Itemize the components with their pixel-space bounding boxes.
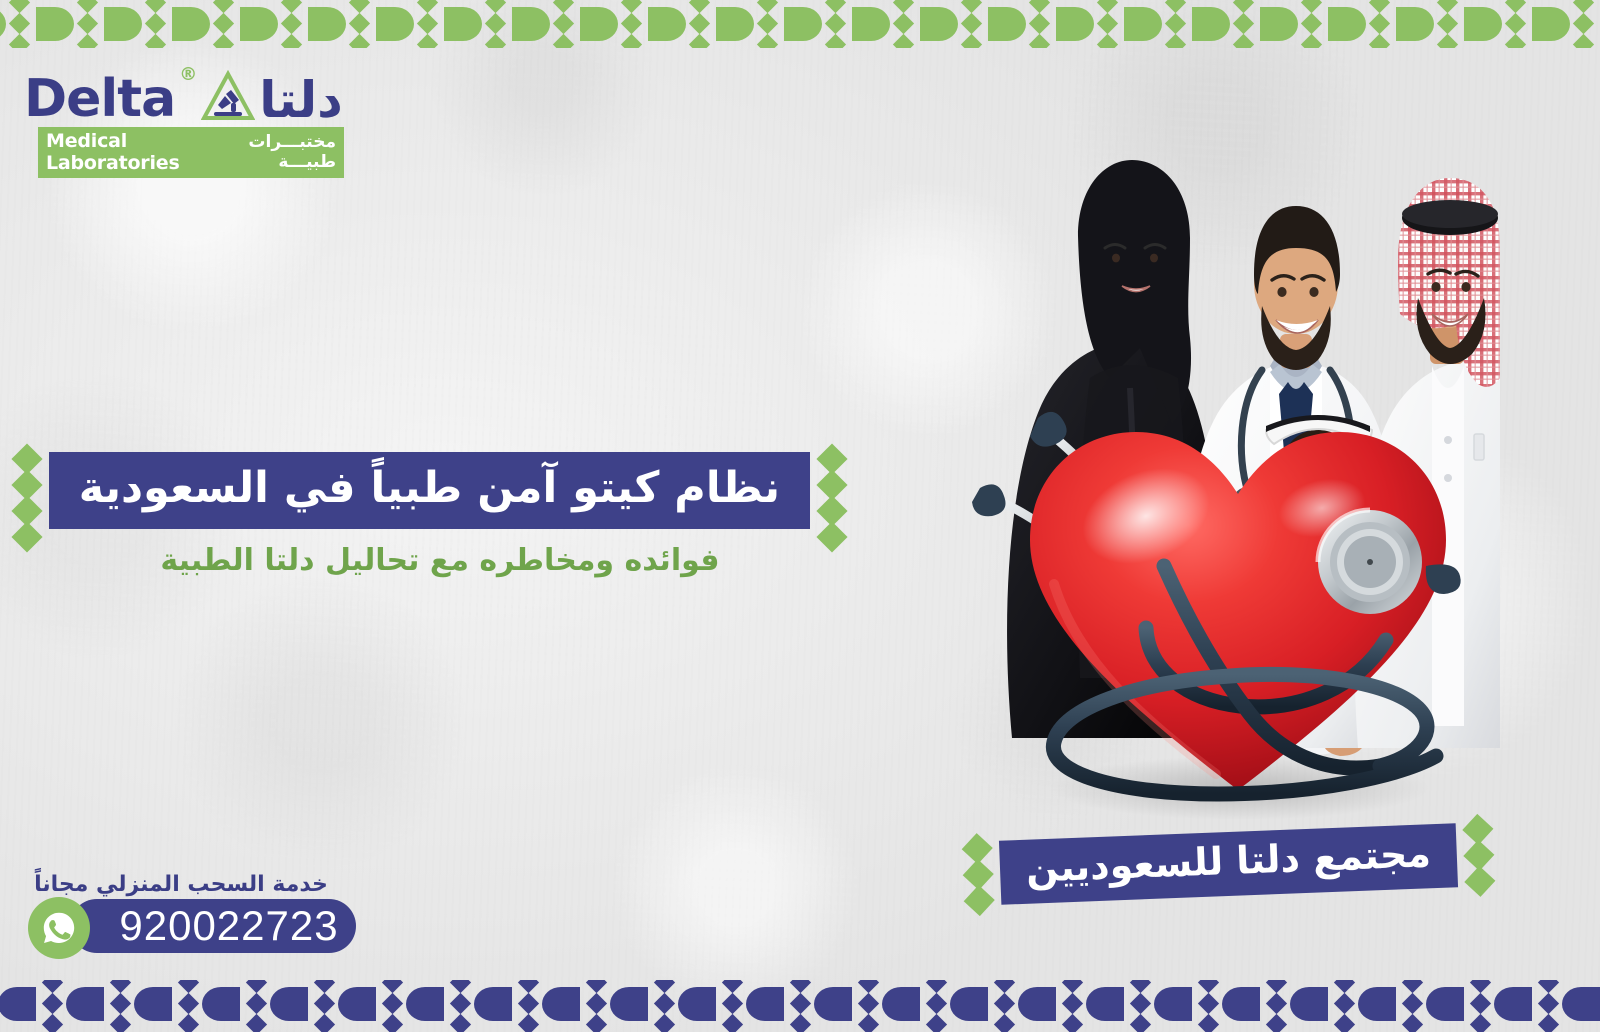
ornament-diamond xyxy=(178,993,199,1014)
top-ornament-border xyxy=(0,0,1600,48)
ornament-diamond xyxy=(1165,13,1186,34)
ornament-diamond xyxy=(722,980,743,993)
ornament-diamond xyxy=(790,993,811,1014)
ornament-diamond xyxy=(994,1014,1015,1032)
ornament-d-shape xyxy=(512,7,550,41)
ornament-diamond xyxy=(281,0,302,13)
ornament-d-shape xyxy=(678,987,716,1021)
ornament-diamond xyxy=(77,0,98,13)
ornament-diamond xyxy=(42,993,63,1014)
ornament-diamond xyxy=(994,993,1015,1014)
chevron-right-ornament-community xyxy=(1456,822,1480,887)
ornament-diamond xyxy=(1334,1014,1355,1032)
ornament-unit xyxy=(36,980,104,1032)
ornament-diamond xyxy=(1573,13,1594,34)
ornament-diamond xyxy=(553,0,574,13)
ornament-diamond xyxy=(926,1014,947,1032)
ornament-diamond xyxy=(1402,980,1423,993)
chevron-right-ornament xyxy=(810,452,832,529)
ornament-diamond xyxy=(757,0,778,13)
ornament-diamond xyxy=(1266,1014,1287,1032)
ornament-unit xyxy=(1124,0,1192,48)
ornament-diamond xyxy=(893,34,914,48)
ornament-unit xyxy=(716,0,784,48)
ornament-diamond xyxy=(450,980,471,993)
delta-logo[interactable]: Delta ® دلتا Medical Laboratories مختبــ… xyxy=(24,62,344,178)
microscope-triangle-icon xyxy=(201,70,255,124)
ornament-diamond xyxy=(722,1014,743,1032)
ornament-d-shape xyxy=(1328,7,1366,41)
ornament-diamond xyxy=(1301,13,1322,34)
ornament-unit xyxy=(988,980,1056,1032)
ornament-d-shape xyxy=(1086,987,1124,1021)
ornament-diamond xyxy=(1165,0,1186,13)
ornament-d-shape xyxy=(1562,987,1600,1021)
ornament-diamond xyxy=(485,0,506,13)
phone-number[interactable]: 920022723 xyxy=(70,899,356,953)
registered-trademark-icon: ® xyxy=(179,64,197,85)
ornament-diamond xyxy=(1301,34,1322,48)
ornament-d-shape xyxy=(814,987,852,1021)
ornament-unit xyxy=(1260,0,1328,48)
ornament-diamond xyxy=(1233,13,1254,34)
ornament-d-shape xyxy=(1222,987,1260,1021)
ornament-diamond xyxy=(314,980,335,993)
ornament-d-shape xyxy=(1018,987,1056,1021)
ornament-unit xyxy=(852,0,920,48)
ornament-diamond xyxy=(1437,34,1458,48)
ornament-diamond xyxy=(586,993,607,1014)
ornament-diamond xyxy=(1266,980,1287,993)
ornament-diamond xyxy=(858,1014,879,1032)
ornament-diamond xyxy=(1130,980,1151,993)
ornament-diamond xyxy=(553,13,574,34)
ornament-diamond xyxy=(314,993,335,1014)
ornament-diamond xyxy=(654,980,675,993)
ornament-d-shape xyxy=(444,7,482,41)
ornament-diamond xyxy=(1029,13,1050,34)
phone-row[interactable]: 920022723 xyxy=(28,899,358,957)
ornament-d-shape xyxy=(134,987,172,1021)
ornament-diamond xyxy=(1233,34,1254,48)
ornament-unit xyxy=(376,0,444,48)
ornament-diamond xyxy=(1062,980,1083,993)
ornament-d-shape xyxy=(988,7,1026,41)
ornament-unit xyxy=(1328,980,1396,1032)
ornament-unit xyxy=(308,980,376,1032)
ornament-diamond xyxy=(1029,34,1050,48)
ornament-diamond xyxy=(926,980,947,993)
ornament-diamond xyxy=(621,34,642,48)
whatsapp-icon[interactable] xyxy=(28,897,90,959)
ornament-d-shape xyxy=(36,7,74,41)
ornament-d-shape xyxy=(406,987,444,1021)
ornament-diamond xyxy=(858,993,879,1014)
ornament-diamond xyxy=(246,980,267,993)
ornament-d-shape xyxy=(1192,7,1230,41)
ornament-diamond xyxy=(994,980,1015,993)
ornament-diamond xyxy=(1130,1014,1151,1032)
ornament-d-shape xyxy=(1124,7,1162,41)
headline-subtitle: فوائده ومخاطره مع تحاليل دلتا الطبية xyxy=(70,543,810,578)
ornament-unit xyxy=(1328,0,1396,48)
ornament-d-shape xyxy=(1464,7,1502,41)
ornament-diamond xyxy=(42,1014,63,1032)
ornament-diamond xyxy=(9,34,30,48)
ornament-d-shape xyxy=(610,987,648,1021)
ornament-unit xyxy=(0,980,36,1032)
ornament-unit xyxy=(1124,980,1192,1032)
ornament-diamond xyxy=(1130,993,1151,1014)
ornament-unit xyxy=(172,980,240,1032)
ornament-diamond xyxy=(586,980,607,993)
ornament-d-shape xyxy=(1426,987,1464,1021)
ornament-d-shape xyxy=(852,7,890,41)
ornament-unit xyxy=(376,980,444,1032)
ornament-diamond xyxy=(1198,980,1219,993)
ornament-unit xyxy=(1260,980,1328,1032)
ornament-unit xyxy=(0,0,36,48)
ornament-unit xyxy=(920,0,988,48)
ornament-unit xyxy=(1464,0,1532,48)
ornament-d-shape xyxy=(240,7,278,41)
ornament-diamond xyxy=(281,34,302,48)
ornament-diamond xyxy=(621,13,642,34)
ornament-d-shape xyxy=(882,987,920,1021)
ornament-diamond xyxy=(178,1014,199,1032)
ornament-unit xyxy=(580,980,648,1032)
ornament-diamond xyxy=(382,1014,403,1032)
ornament-d-shape xyxy=(1396,7,1434,41)
ornament-diamond xyxy=(485,13,506,34)
ornament-diamond xyxy=(689,0,710,13)
ornament-unit xyxy=(580,0,648,48)
logo-top-row: Delta ® دلتا xyxy=(24,62,344,124)
ornament-d-shape xyxy=(0,987,36,1021)
ornament-diamond xyxy=(1062,993,1083,1014)
ornament-d-shape xyxy=(542,987,580,1021)
ornament-diamond xyxy=(213,34,234,48)
ornament-diamond xyxy=(42,980,63,993)
ornament-diamond xyxy=(1470,1014,1491,1032)
logo-tagline-ar: مختبـــرات طبيـــة xyxy=(218,132,336,172)
ornament-diamond xyxy=(1573,0,1594,13)
ornament-unit xyxy=(648,980,716,1032)
ornament-diamond xyxy=(1029,0,1050,13)
ornament-diamond xyxy=(382,980,403,993)
headline-title: نظام كيتو آمن طبياً في السعودية xyxy=(49,452,810,529)
ornament-diamond xyxy=(893,0,914,13)
ornament-unit xyxy=(988,0,1056,48)
ornament-diamond xyxy=(1402,1014,1423,1032)
ornament-diamond xyxy=(450,993,471,1014)
ornament-diamond xyxy=(485,34,506,48)
ornament-d-shape xyxy=(1532,7,1570,41)
ornament-d-shape xyxy=(202,987,240,1021)
ornament-diamond xyxy=(1233,0,1254,13)
headline-block: نظام كيتو آمن طبياً في السعودية فوائده و… xyxy=(70,452,810,578)
ornament-diamond xyxy=(110,993,131,1014)
ornament-unit xyxy=(1396,0,1464,48)
ornament-diamond xyxy=(1470,980,1491,993)
ornament-diamond xyxy=(246,993,267,1014)
headline-ribbon: نظام كيتو آمن طبياً في السعودية xyxy=(49,452,810,529)
ornament-d-shape xyxy=(784,7,822,41)
ornament-d-shape xyxy=(920,7,958,41)
ornament-diamond xyxy=(314,1014,335,1032)
ornament-diamond xyxy=(1334,980,1355,993)
ornament-diamond xyxy=(1198,1014,1219,1032)
ornament-d-shape xyxy=(308,7,346,41)
ornament-unit xyxy=(104,0,172,48)
ornament-d-shape xyxy=(1260,7,1298,41)
ornament-diamond xyxy=(1470,993,1491,1014)
ornament-diamond xyxy=(790,980,811,993)
ornament-diamond xyxy=(1437,13,1458,34)
ornament-unit xyxy=(104,980,172,1032)
ornament-diamond xyxy=(417,13,438,34)
ornament-diamond xyxy=(926,993,947,1014)
ornament-diamond xyxy=(825,34,846,48)
home-draw-service-note: خدمة السحب المنزلي مجاناً xyxy=(28,872,358,897)
ornament-unit xyxy=(308,0,376,48)
ornament-diamond xyxy=(145,0,166,13)
ornament-diamond xyxy=(893,13,914,34)
ornament-d-shape xyxy=(0,7,6,41)
ornament-unit xyxy=(716,980,784,1032)
ornament-diamond xyxy=(281,13,302,34)
ornament-diamond xyxy=(145,34,166,48)
ornament-diamond xyxy=(417,0,438,13)
ornament-diamond xyxy=(518,1014,539,1032)
ornament-unit xyxy=(1192,0,1260,48)
ornament-unit xyxy=(240,0,308,48)
ornament-diamond xyxy=(961,0,982,13)
red-heart-3d xyxy=(950,370,1510,840)
ornament-diamond xyxy=(1505,34,1526,48)
logo-tagline-bar: Medical Laboratories مختبـــرات طبيـــة xyxy=(38,127,344,178)
ornament-diamond xyxy=(349,0,370,13)
logo-wordmark-en: Delta xyxy=(24,75,175,124)
ornament-diamond xyxy=(1402,993,1423,1014)
ornament-diamond xyxy=(1369,0,1390,13)
ornament-diamond xyxy=(213,13,234,34)
ornament-unit xyxy=(172,0,240,48)
ornament-unit xyxy=(852,980,920,1032)
ornament-d-shape xyxy=(104,7,142,41)
ornament-unit xyxy=(444,0,512,48)
ornament-diamond xyxy=(213,0,234,13)
ornament-diamond xyxy=(586,1014,607,1032)
ornament-unit xyxy=(784,0,852,48)
ornament-diamond xyxy=(110,1014,131,1032)
ornament-diamond xyxy=(9,13,30,34)
ornament-unit xyxy=(36,0,104,48)
ornament-unit xyxy=(1532,0,1600,48)
ornament-diamond xyxy=(1266,993,1287,1014)
ornament-diamond xyxy=(858,980,879,993)
ornament-diamond xyxy=(1062,1014,1083,1032)
ornament-diamond xyxy=(1097,0,1118,13)
ornament-d-shape xyxy=(1290,987,1328,1021)
ornament-unit xyxy=(512,0,580,48)
contact-block: خدمة السحب المنزلي مجاناً 920022723 xyxy=(28,872,358,957)
ornament-diamond xyxy=(77,13,98,34)
ornament-d-shape xyxy=(648,7,686,41)
ornament-d-shape xyxy=(376,7,414,41)
ornament-unit xyxy=(920,980,988,1032)
ornament-diamond xyxy=(825,13,846,34)
ornament-unit xyxy=(1056,0,1124,48)
ornament-diamond xyxy=(1198,993,1219,1014)
ornament-unit xyxy=(784,980,852,1032)
ornament-diamond xyxy=(417,34,438,48)
ornament-d-shape xyxy=(580,7,618,41)
ornament-d-shape xyxy=(1358,987,1396,1021)
ornament-diamond xyxy=(382,993,403,1014)
ornament-diamond xyxy=(621,0,642,13)
chevron-left-ornament xyxy=(27,452,49,529)
ornament-diamond xyxy=(1301,0,1322,13)
ornament-unit xyxy=(648,0,716,48)
ornament-diamond xyxy=(1097,34,1118,48)
ornament-d-shape xyxy=(1494,987,1532,1021)
ornament-diamond xyxy=(518,980,539,993)
ornament-unit xyxy=(1056,980,1124,1032)
ornament-diamond xyxy=(689,34,710,48)
ornament-diamond xyxy=(825,0,846,13)
ornament-diamond xyxy=(722,993,743,1014)
ornament-d-shape xyxy=(746,987,784,1021)
ornament-diamond xyxy=(1369,34,1390,48)
ornament-unit xyxy=(1532,980,1600,1032)
ornament-diamond xyxy=(654,993,675,1014)
bottom-ornament-border xyxy=(0,980,1600,1032)
ornament-diamond xyxy=(654,1014,675,1032)
ornament-diamond xyxy=(553,34,574,48)
ornament-diamond xyxy=(110,980,131,993)
ornament-diamond xyxy=(790,1014,811,1032)
ornament-d-shape xyxy=(270,987,308,1021)
ornament-unit xyxy=(240,980,308,1032)
ornament-diamond xyxy=(1334,993,1355,1014)
ornament-d-shape xyxy=(1154,987,1192,1021)
logo-tagline-en: Medical Laboratories xyxy=(46,130,218,174)
logo-wordmark-ar: دلتا xyxy=(259,77,343,125)
ornament-diamond xyxy=(757,34,778,48)
ornament-diamond xyxy=(1097,13,1118,34)
ornament-unit xyxy=(512,980,580,1032)
ornament-diamond xyxy=(246,1014,267,1032)
ornament-diamond xyxy=(757,13,778,34)
ornament-diamond xyxy=(689,13,710,34)
ornament-d-shape xyxy=(716,7,754,41)
ornament-d-shape xyxy=(950,987,988,1021)
ornament-diamond xyxy=(518,993,539,1014)
ornament-diamond xyxy=(1538,980,1559,993)
ornament-d-shape xyxy=(66,987,104,1021)
poster-canvas: Delta ® دلتا Medical Laboratories مختبــ… xyxy=(0,0,1600,1032)
ornament-diamond xyxy=(1369,13,1390,34)
ornament-diamond xyxy=(77,34,98,48)
ornament-unit xyxy=(444,980,512,1032)
ornament-diamond xyxy=(961,13,982,34)
chevron-left-ornament-community xyxy=(977,841,1001,906)
ornament-d-shape xyxy=(1056,7,1094,41)
ornament-diamond xyxy=(1505,13,1526,34)
ornament-diamond xyxy=(1437,0,1458,13)
ornament-diamond xyxy=(349,13,370,34)
ornament-diamond xyxy=(1573,34,1594,48)
ornament-diamond xyxy=(349,34,370,48)
ornament-unit xyxy=(1464,980,1532,1032)
ornament-diamond xyxy=(1505,0,1526,13)
ornament-d-shape xyxy=(338,987,376,1021)
ornament-diamond xyxy=(9,0,30,13)
ornament-d-shape xyxy=(172,7,210,41)
ornament-diamond xyxy=(1538,993,1559,1014)
ornament-diamond xyxy=(450,1014,471,1032)
ornament-diamond xyxy=(961,34,982,48)
ornament-diamond xyxy=(145,13,166,34)
ornament-unit xyxy=(1396,980,1464,1032)
ornament-unit xyxy=(1192,980,1260,1032)
ornament-diamond xyxy=(1538,1014,1559,1032)
ornament-diamond xyxy=(1165,34,1186,48)
ornament-diamond xyxy=(178,980,199,993)
ornament-d-shape xyxy=(474,987,512,1021)
